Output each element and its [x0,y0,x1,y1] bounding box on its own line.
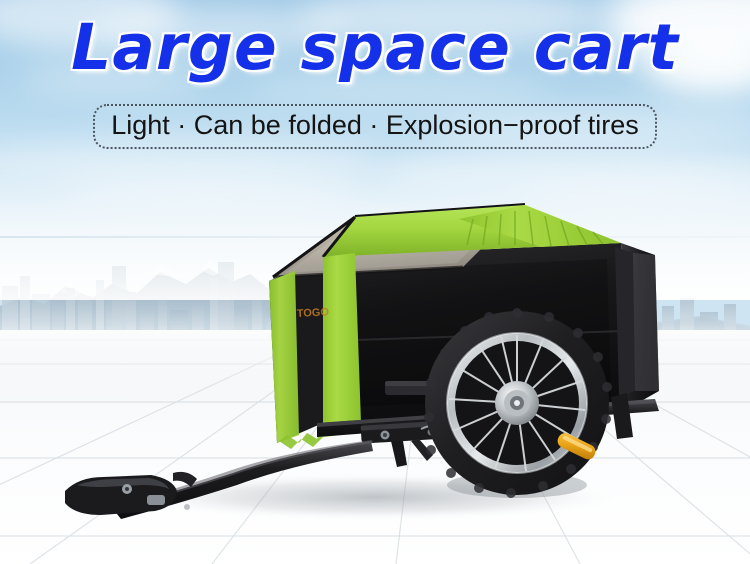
hitch-latch-arm [391,441,407,467]
brand-logo-text: TOGO [297,306,330,320]
rear-side-fabric [633,253,659,391]
feature-badge: Light · Can be folded · Explosion−proof … [93,104,657,149]
cover-green-side-trim [269,271,299,443]
coupling-screw [184,504,190,510]
page-title: Large space cart [0,16,750,79]
coupling-quick-release [147,495,165,505]
subtitle-container: Light · Can be folded · Explosion−proof … [0,104,750,149]
cover-green-corner-trim [323,253,361,423]
product-image-cargo-trailer: TOGO [55,185,695,525]
product-banner: TOGO [0,0,750,564]
